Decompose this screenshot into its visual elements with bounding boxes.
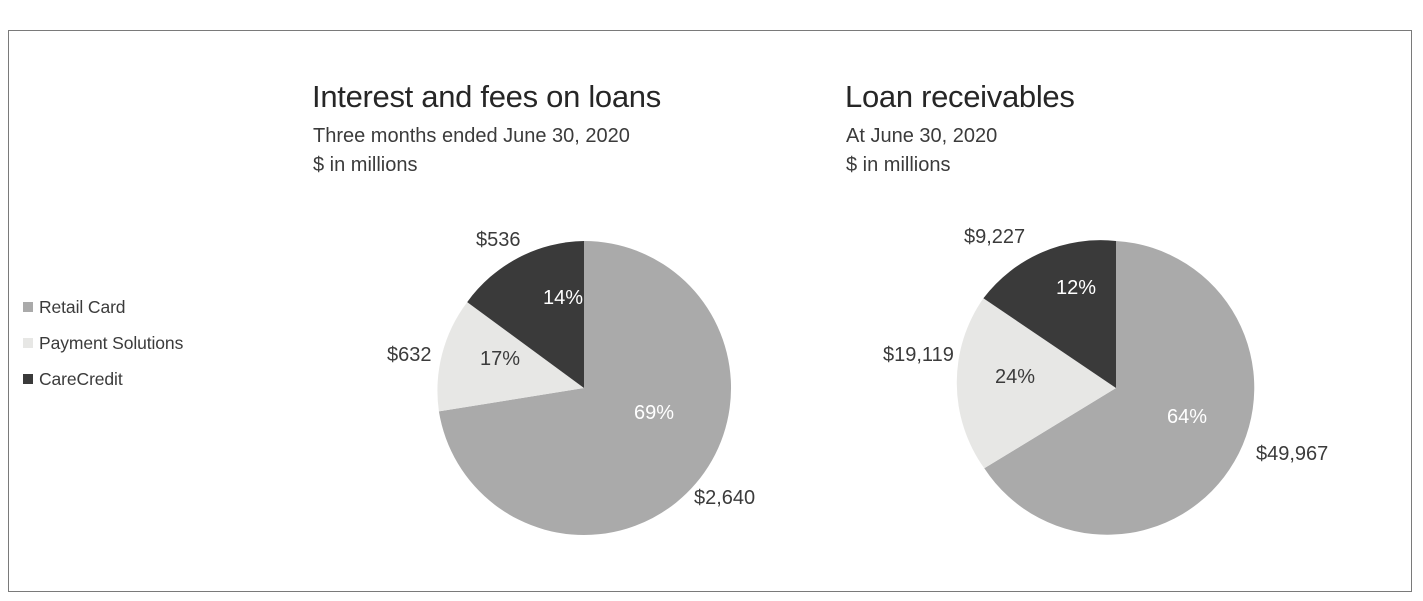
legend-swatch-retail-card: [23, 302, 33, 312]
pie-value-label-carecredit: $9,227: [964, 226, 1025, 249]
pie-percent-payment-solutions: 24%: [995, 366, 1035, 388]
pie-value-label-payment-solutions: $632: [387, 344, 432, 367]
pie-value-label-retail-card: $2,640: [694, 487, 755, 510]
legend-swatch-carecredit: [23, 374, 33, 384]
pie-percent-carecredit: 14%: [543, 287, 583, 309]
chart-title: Interest and fees on loans: [312, 79, 661, 115]
pie-value-label-payment-solutions: $19,119: [883, 344, 954, 367]
pie-slices: [437, 241, 731, 535]
legend-item-retail-card: Retail Card: [23, 289, 253, 325]
legend-swatch-payment-solutions: [23, 338, 33, 348]
pie-svg: 69% 17% 14%: [304, 211, 864, 591]
chart-units: $ in millions: [313, 154, 417, 177]
pie-value-label-retail-card: $49,967: [1256, 443, 1328, 466]
chart-subtitle: At June 30, 2020: [846, 125, 997, 148]
pie-svg: 64% 24% 12%: [837, 211, 1397, 591]
legend-label-carecredit: CareCredit: [39, 369, 123, 390]
pie-percent-payment-solutions: 17%: [480, 348, 520, 370]
chart-units: $ in millions: [846, 154, 950, 177]
chart-legend: Retail Card Payment Solutions CareCredit: [23, 289, 253, 397]
chart-title: Loan receivables: [845, 79, 1075, 115]
legend-item-payment-solutions: Payment Solutions: [23, 325, 253, 361]
chart-subtitle: Three months ended June 30, 2020: [313, 125, 630, 148]
pie-value-label-carecredit: $536: [476, 229, 521, 252]
pie-area: 64% 24% 12% $9,227 $19,119 $49,967: [837, 211, 1397, 591]
pie-percent-retail-card: 64%: [1167, 406, 1207, 428]
pie-area: 69% 17% 14% $536 $632 $2,640: [304, 211, 864, 591]
chart-frame: Retail Card Payment Solutions CareCredit…: [8, 30, 1412, 592]
legend-item-carecredit: CareCredit: [23, 361, 253, 397]
legend-label-payment-solutions: Payment Solutions: [39, 333, 183, 354]
pie-percent-carecredit: 12%: [1056, 277, 1096, 299]
legend-label-retail-card: Retail Card: [39, 297, 125, 318]
pie-percent-retail-card: 69%: [634, 402, 674, 424]
